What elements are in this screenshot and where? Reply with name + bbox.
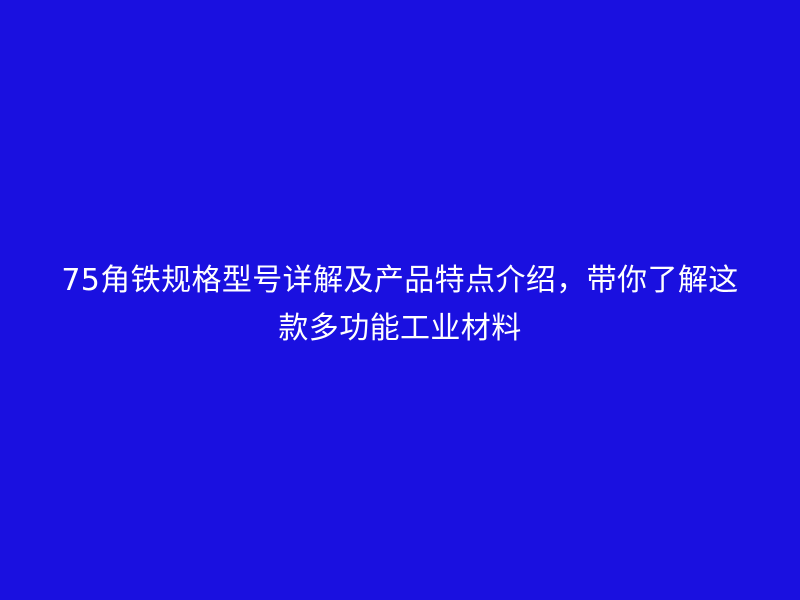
headline-block: 75角铁规格型号详解及产品特点介绍，带你了解这款多功能工业材料 xyxy=(50,257,750,353)
headline-title: 75角铁规格型号详解及产品特点介绍，带你了解这款多功能工业材料 xyxy=(50,257,750,353)
poster-canvas: 75角铁规格型号详解及产品特点介绍，带你了解这款多功能工业材料 xyxy=(0,0,800,600)
